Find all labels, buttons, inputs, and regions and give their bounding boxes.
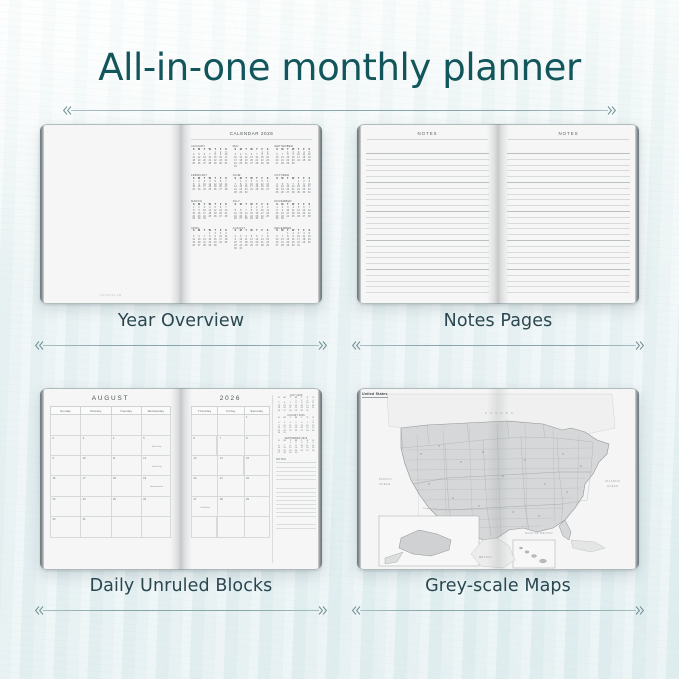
mini-month-grid: JANUARYSMTWTFS12345678910111213141516171… [191,145,312,254]
day-block[interactable]: 17 [80,476,110,496]
day-blocks-right: 167813141520212227Full Moon2829 [191,415,270,537]
day-block[interactable]: 12Youth Day [141,456,171,476]
ocean-label-atlantic: ATLANTIC [605,479,621,483]
open-book-notes: NOTES NOTES [357,124,639,304]
divider-line [360,610,636,611]
month-heading-left: AUGUST [50,395,171,406]
day-block[interactable]: 27Full Moon [191,497,217,517]
day-block[interactable]: 25 [111,497,141,517]
day-block[interactable]: 15 [244,456,270,476]
sidebar-notes-label: NOTES [276,458,316,463]
year-overview-right-page-content: CALENDAR 2026 JANUARYSMTWTFS123456789101… [181,124,322,304]
holiday-note: Youth Day [143,466,170,468]
holiday-note: Humanitarian [143,486,170,488]
book-spine [170,124,192,304]
page-title: All-in-one monthly planner [0,46,679,89]
right-page-edge [318,126,322,302]
day-block[interactable]: 23 [50,497,80,517]
day-block[interactable]: 3 [80,436,110,456]
right-page-edge [318,390,322,568]
panel-caption-grey-scale-maps: Grey-scale Maps [345,576,651,596]
ocean-label-pacific-2: OCEAN [379,482,390,486]
day-block[interactable]: 9 [50,456,80,476]
left-page-edge [40,390,44,568]
feature-panel-grey-scale-maps: PACIFIC OCEAN ATLANTIC OCEAN C A N A D A… [345,383,651,629]
divider-line [43,345,319,346]
day-block[interactable]: 2 [50,436,80,456]
sidebar-notes-lines [276,464,316,532]
ocean-label-pacific: PACIFIC [379,477,392,481]
right-page-edge [635,390,639,568]
caption-divider-year-overview [34,340,328,351]
day-block[interactable]: 26 [141,497,171,517]
us-map: PACIFIC OCEAN ATLANTIC OCEAN C A N A D A… [357,388,639,570]
month-name: AUGUST [50,395,171,402]
map-title: United States [362,392,388,398]
double-chevron-right-icon [635,605,645,616]
month-heading-right: 2026 [191,395,270,406]
right-page-edge [635,126,639,302]
month-year: 2026 [191,395,270,402]
day-block[interactable]: 6 [191,436,217,456]
page-footer-note: LIKTNLIKL.CN [40,294,181,297]
double-chevron-right-icon [635,340,645,351]
day-block[interactable]: 14 [217,456,243,476]
day-block[interactable] [80,415,110,435]
notes-pages-photo: NOTES NOTES [345,118,651,310]
day-block[interactable] [217,415,243,435]
day-block[interactable] [141,517,171,537]
us-map-graphic: PACIFIC OCEAN ATLANTIC OCEAN C A N A D A… [357,388,639,570]
day-block[interactable]: 11 [111,456,141,476]
day-block[interactable] [111,517,141,537]
day-block[interactable]: 1 [244,415,270,435]
feature-panel-year-overview: LIKTNLIKL.CN CALENDAR 2026 JANUARYSMTWTF… [28,118,334,364]
notes-header-right: NOTES [508,131,629,140]
book-spine [487,124,509,304]
day-block[interactable]: 7 [217,436,243,456]
daily-blocks-photo: AUGUST SundayMondayTuesdayWednesday 2345… [28,383,334,575]
day-block[interactable]: 22 [244,476,270,496]
day-block[interactable]: 20 [191,476,217,496]
day-block[interactable]: 4 [111,436,141,456]
product-feature-page: All-in-one monthly planner LIKTNLIKL.CN [0,0,679,679]
weekday-header-cell: Saturday [244,406,270,415]
month-left-page-content: AUGUST SundayMondayTuesdayWednesday 2345… [40,388,181,570]
ruled-lines-left [366,148,489,298]
notes-header-left: NOTES [367,131,488,140]
sidebar-mini-calendars: JULY 2026SMTWTFS123456789101112131415161… [276,395,316,455]
left-page-edge [357,390,361,568]
holiday-note: Full Moon [193,507,217,509]
book-spine [170,388,192,570]
year-overview-photo: LIKTNLIKL.CN CALENDAR 2026 JANUARYSMTWTF… [28,118,334,310]
caption-divider-grey-scale-maps [351,605,645,616]
double-chevron-right-icon [607,105,617,116]
ruled-lines-right [507,148,630,298]
left-page-edge [357,126,361,302]
panel-caption-daily-unruled-blocks: Daily Unruled Blocks [28,576,334,596]
weekday-header-cell: Thursday [191,406,217,415]
day-block[interactable]: 13 [191,456,217,476]
double-chevron-right-icon [318,605,328,616]
day-block[interactable]: 19Humanitarian [141,476,171,496]
panel-caption-notes-pages: Notes Pages [345,311,651,331]
title-divider [62,105,617,116]
gulf-label: GULF OF MEXICO [525,531,553,535]
day-block[interactable] [191,517,217,537]
double-chevron-right-icon [318,340,328,351]
notes-right-page-content: NOTES [498,124,639,304]
left-page-edge [40,126,44,302]
day-block[interactable] [50,415,80,435]
day-block[interactable]: 30 [50,517,80,537]
day-block[interactable]: 21 [217,476,243,496]
day-block[interactable]: 24 [80,497,110,517]
feature-panel-daily-unruled-blocks: AUGUST SundayMondayTuesdayWednesday 2345… [28,383,334,629]
country-label-canada: C A N A D A [485,411,514,415]
divider-line [360,345,636,346]
holiday-note: Work Day [143,446,170,448]
day-block[interactable]: 10 [80,456,110,476]
weekday-header-right: ThursdayFridaySaturday [191,406,270,415]
weekday-header-cell: Wednesday [141,406,171,415]
feature-panel-notes-pages: NOTES NOTES Notes Pages [345,118,651,364]
month-sidebar: JULY 2026SMTWTFS123456789101112131415161… [272,395,316,563]
year-overview-left-page-content: LIKTNLIKL.CN [40,124,181,304]
grey-scale-map-photo: PACIFIC OCEAN ATLANTIC OCEAN C A N A D A… [345,383,651,575]
weekday-header-cell: Sunday [50,406,80,415]
open-book-year-overview: LIKTNLIKL.CN CALENDAR 2026 JANUARYSMTWTF… [40,124,322,304]
day-block[interactable] [217,517,243,537]
weekday-header-cell: Friday [217,406,243,415]
notes-left-page-content: NOTES [357,124,498,304]
open-book-map: PACIFIC OCEAN ATLANTIC OCEAN C A N A D A… [357,388,639,570]
day-block[interactable]: 8 [244,436,270,456]
caption-divider-notes-pages [351,340,645,351]
feature-grid: LIKTNLIKL.CN CALENDAR 2026 JANUARYSMTWTF… [24,118,655,649]
day-block[interactable]: 31 [80,517,110,537]
country-label-mexico: MEXICO [479,555,492,559]
divider-line [71,110,608,111]
day-block[interactable]: 28 [217,497,243,517]
caption-divider-daily-unruled-blocks [34,605,328,616]
weekday-header-cell: Tuesday [111,406,141,415]
weekday-header-cell: Monday [80,406,110,415]
day-block[interactable] [141,415,171,435]
ocean-label-atlantic-2: OCEAN [607,484,618,488]
day-block[interactable]: 18 [111,476,141,496]
day-blocks-left: 2345Work Day9101112Youth Day16171819Huma… [50,415,171,537]
day-block[interactable] [111,415,141,435]
day-block[interactable] [191,415,217,435]
day-block[interactable]: 16 [50,476,80,496]
weekday-header-left: SundayMondayTuesdayWednesday [50,406,171,415]
day-block[interactable] [244,517,270,537]
day-block[interactable]: 29 [244,497,270,517]
panel-caption-year-overview: Year Overview [28,311,334,331]
open-book-month-spread: AUGUST SundayMondayTuesdayWednesday 2345… [40,388,322,570]
day-block[interactable]: 5Work Day [141,436,171,456]
calendar-year-header: CALENDAR 2026 [191,131,312,140]
divider-line [43,610,319,611]
